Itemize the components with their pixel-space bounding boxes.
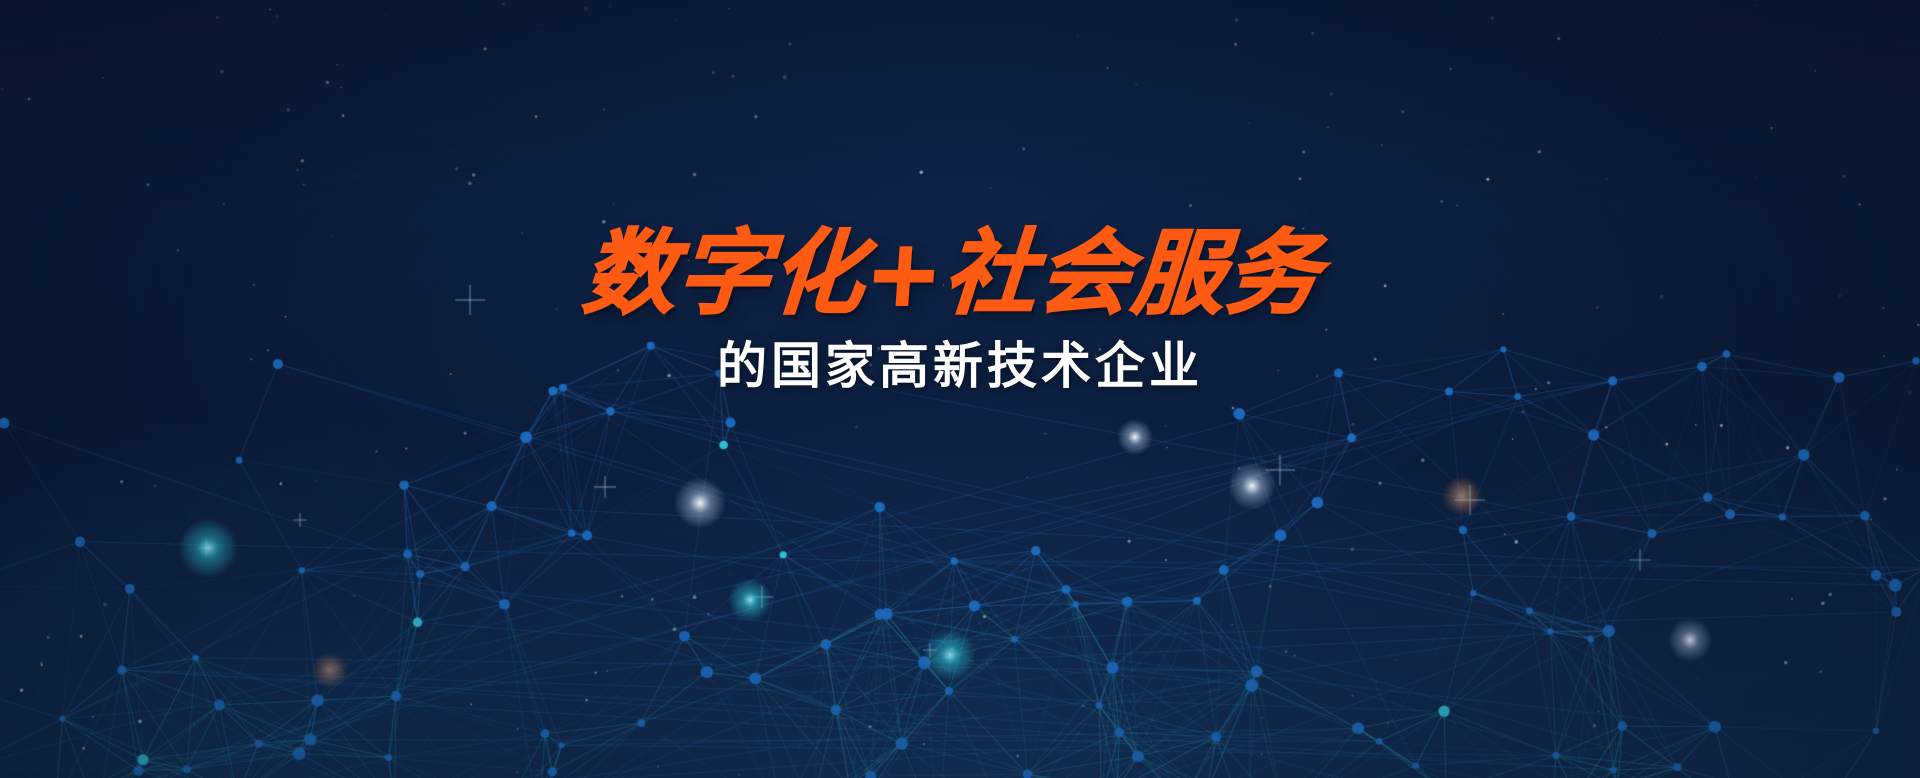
hero-banner: 数字化+社会服务 的国家高新技术企业 xyxy=(0,0,1920,778)
hero-text-block: 数字化+社会服务 的国家高新技术企业 xyxy=(0,0,1920,393)
hero-headline: 数字化+社会服务 xyxy=(0,0,1920,320)
hero-subheadline: 的国家高新技术企业 xyxy=(0,320,1920,393)
